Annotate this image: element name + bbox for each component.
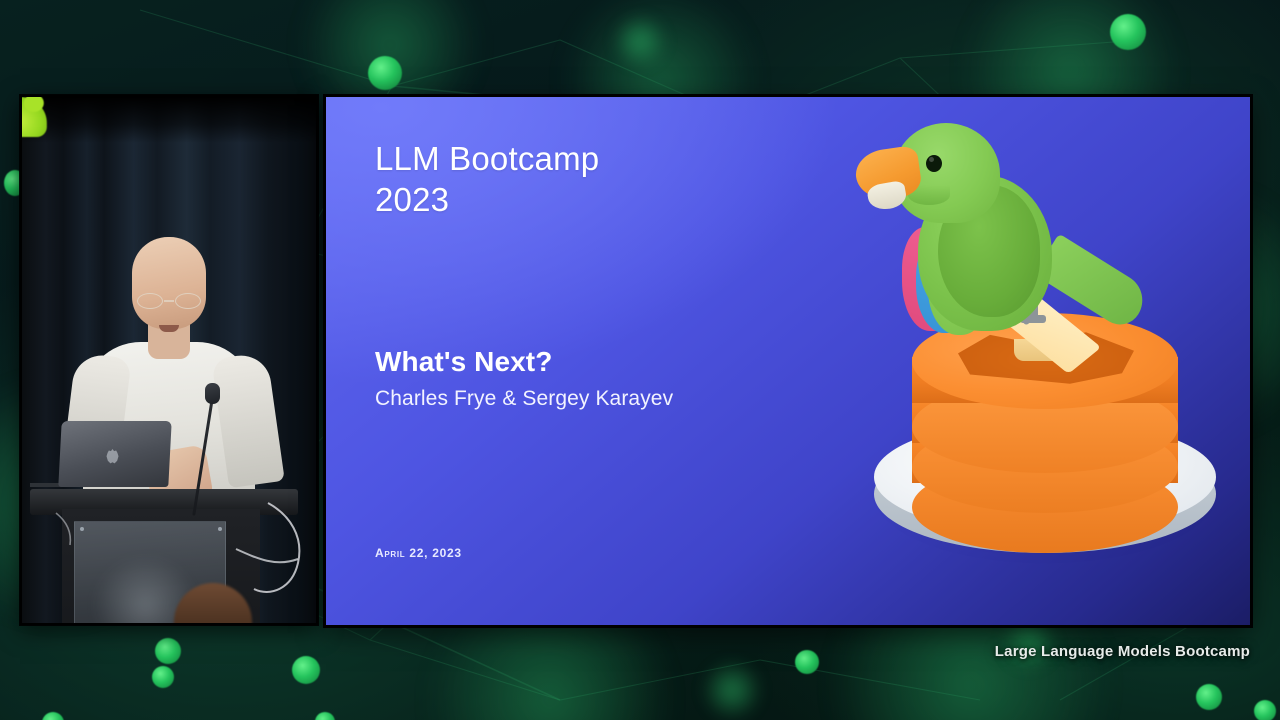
slide-title: LLM Bootcamp 2023 (375, 138, 599, 220)
slide-authors: Charles Frye & Sergey Karayev (375, 387, 673, 411)
presentation-slide[interactable]: LLM Bootcamp 2023 What's Next? Charles F… (326, 97, 1250, 625)
speaker-video-panel[interactable] (20, 95, 318, 625)
watermark-label: Large Language Models Bootcamp (995, 643, 1250, 660)
cables (22, 97, 316, 623)
slide-heading: What's Next? (375, 346, 552, 378)
bird-eye (926, 155, 942, 172)
slide-date: April 22, 2023 (375, 546, 462, 560)
parrot-on-pancakes-illustration (842, 107, 1242, 619)
video-player-stage: LLM Bootcamp 2023 What's Next? Charles F… (0, 0, 1280, 720)
